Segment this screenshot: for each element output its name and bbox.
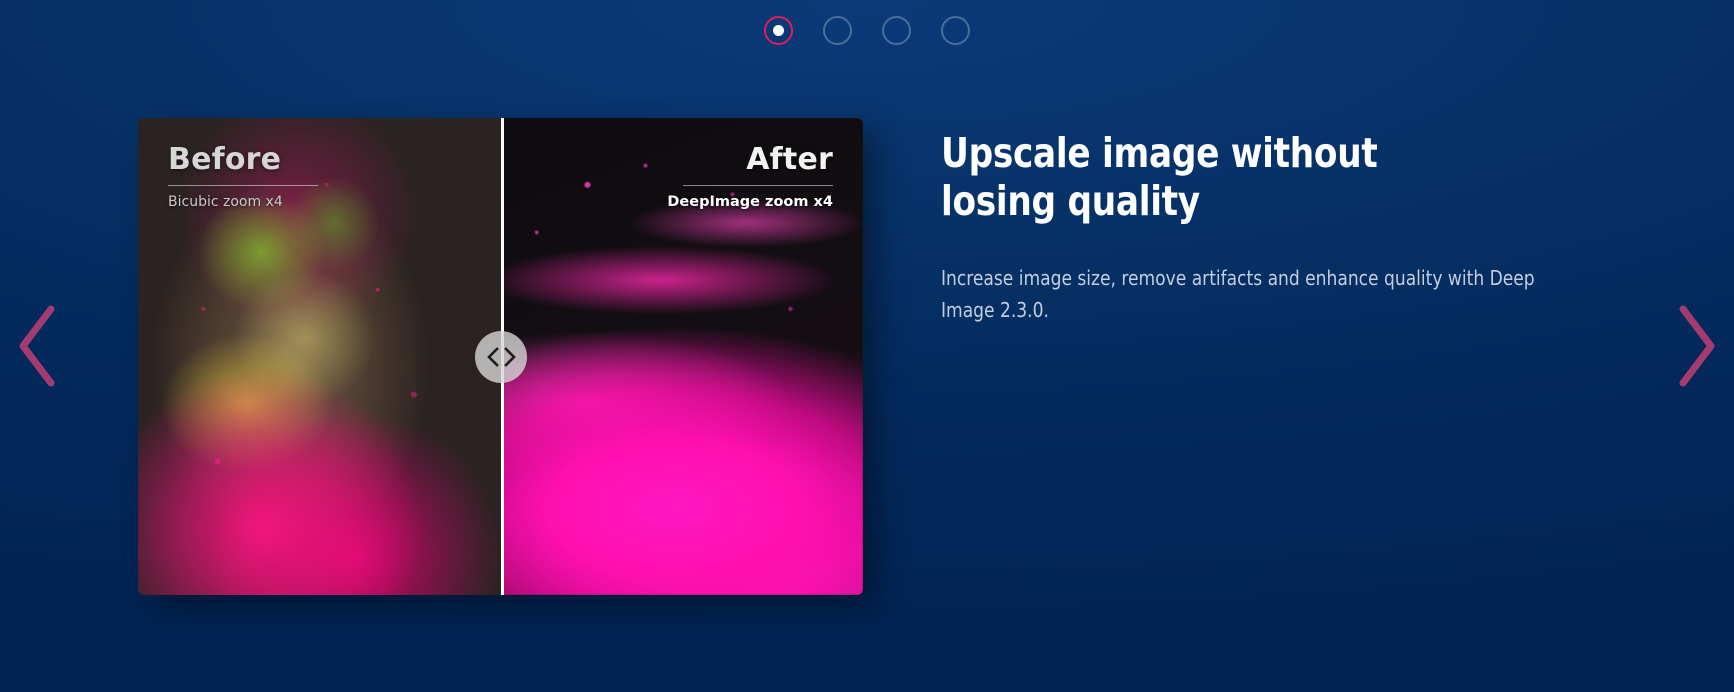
before-label-title: Before [168,144,318,176]
slide-copy: Upscale image without losing quality Inc… [941,118,1601,327]
carousel-prev-button[interactable] [8,291,68,401]
pagination-dot-1-core [773,25,784,36]
pagination-dot-4[interactable] [941,16,970,45]
carousel-pagination[interactable] [0,16,1734,45]
after-label-block: After DeepImage zoom x4 [667,144,833,210]
carousel-next-button[interactable] [1666,291,1726,401]
chevron-right-icon [1673,303,1719,389]
after-label-subtitle: DeepImage zoom x4 [667,194,833,210]
pagination-dot-1[interactable] [764,16,793,45]
before-after-comparison[interactable]: Before Bicubic zoom x4 After DeepImage z… [138,118,863,595]
chevron-right-icon [503,347,516,367]
pagination-dot-2[interactable] [823,16,852,45]
before-label-subtitle: Bicubic zoom x4 [168,194,318,210]
slide-heading: Upscale image without losing quality [941,130,1448,226]
after-label-title: After [667,144,833,176]
comparison-slider-handle[interactable] [475,331,527,383]
carousel-slide: Before Bicubic zoom x4 After DeepImage z… [0,0,1734,595]
before-label-block: Before Bicubic zoom x4 [168,144,318,210]
pagination-dot-3[interactable] [882,16,911,45]
slide-description: Increase image size, remove artifacts an… [941,262,1549,327]
after-label-rule [683,185,833,186]
before-label-rule [168,185,318,186]
chevron-left-icon [487,347,500,367]
chevron-left-icon [15,303,61,389]
carousel-stage: Before Bicubic zoom x4 After DeepImage z… [0,0,1734,692]
